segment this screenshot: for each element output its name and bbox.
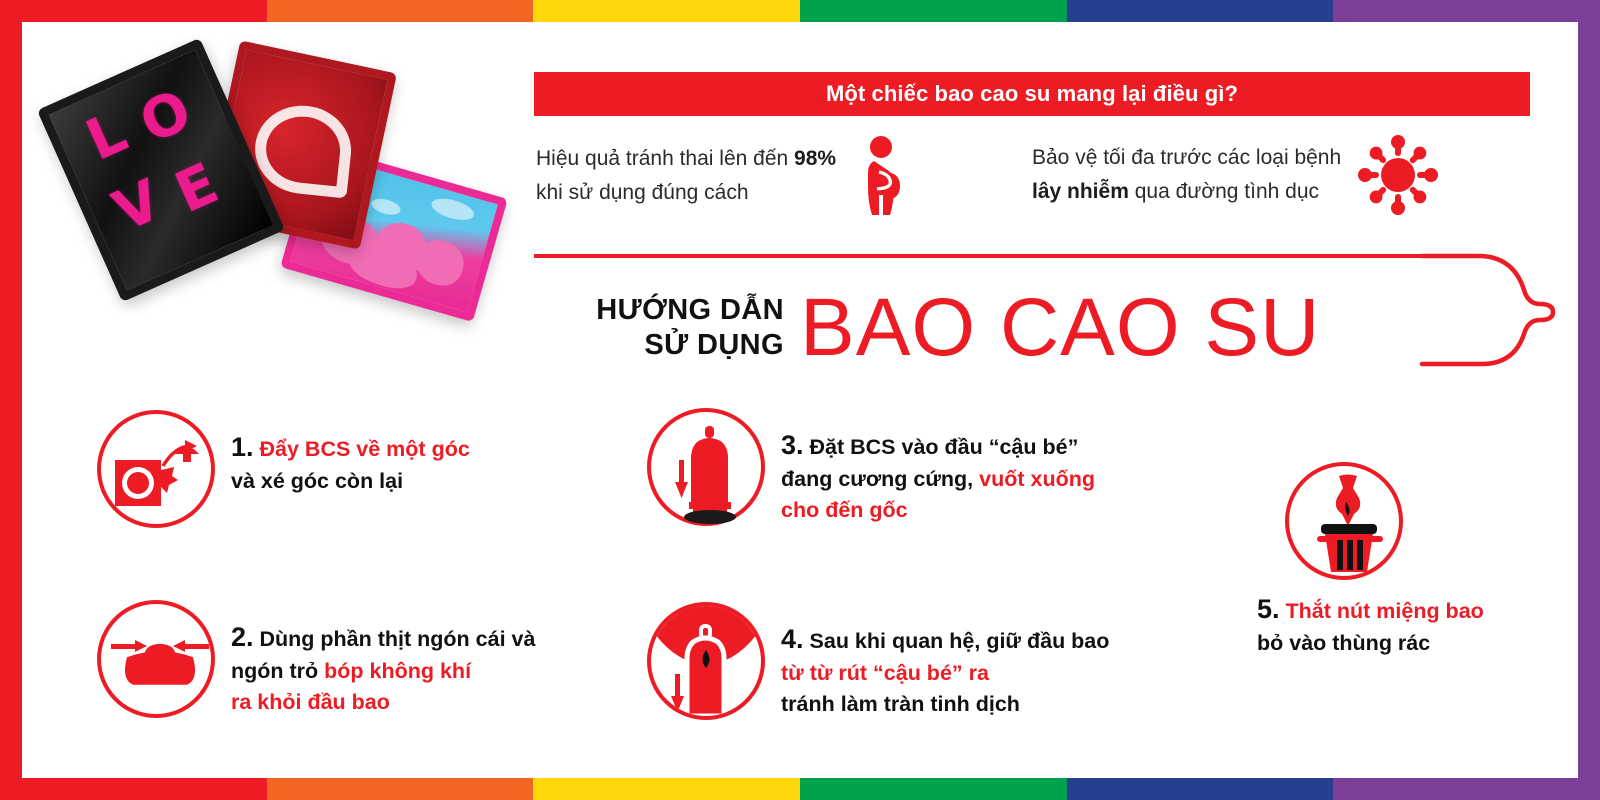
step-5-seg-0: Thắt nút miệng bao — [1286, 599, 1484, 623]
stripe-purple — [1333, 0, 1600, 22]
condom-packet-tear-corner-icon — [113, 430, 205, 512]
benefit-sti-text: Bảo vệ tối đa trước các loại bệnh lây nh… — [1032, 141, 1341, 209]
step-3-text: 3. Đặt BCS vào đầu “cậu bé” đang cương c… — [781, 408, 1095, 525]
stripe-red — [0, 0, 267, 22]
stripe-green — [800, 778, 1067, 800]
benefit-pregnancy-line1-a: Hiệu quả tránh thai lên đến — [536, 147, 794, 170]
step-1-number: 1. — [231, 432, 254, 462]
step-1-seg-0: Đẩy BCS về một góc — [260, 437, 470, 461]
stripe-yellow — [533, 0, 800, 22]
stripe-blue — [1067, 778, 1334, 800]
step-1-circle — [97, 410, 215, 528]
stripe-red — [0, 778, 267, 800]
header-banner: Một chiếc bao cao su mang lại điều gì? — [534, 72, 1530, 116]
main-title: HƯỚNG DẪN SỬ DỤNG BAO CAO SU — [534, 278, 1534, 378]
benefit-sti-bold: lây nhiễm — [1032, 180, 1129, 203]
pregnant-woman-icon — [854, 136, 908, 216]
step-1: 1. Đẩy BCS về một góc và xé góc còn lại — [97, 410, 470, 528]
step-5: 5. Thắt nút miệng bao bỏ vào thùng rác — [1257, 462, 1484, 659]
stripe-green — [800, 0, 1067, 22]
step-4-seg-0: Sau khi quan hệ, giữ đầu bao — [810, 629, 1110, 653]
stripe-yellow — [533, 778, 800, 800]
step-1-seg-1: và xé góc còn lại — [231, 469, 403, 493]
tied-condom-trash-bin-icon — [1303, 474, 1393, 574]
benefit-pregnancy-text: Hiệu quả tránh thai lên đến 98% khi sử d… — [536, 142, 836, 210]
step-2-circle — [97, 600, 215, 718]
benefit-sti: Bảo vệ tối đa trước các loại bệnh lây nh… — [1032, 136, 1532, 214]
benefit-sti-line2: qua đường tình dục — [1129, 180, 1319, 203]
step-1-text: 1. Đẩy BCS về một góc và xé góc còn lại — [231, 410, 470, 497]
title-subheading-line1: HƯỚNG DẪN — [534, 293, 784, 328]
stripe-purple — [1333, 778, 1600, 800]
condom-withdraw-icon — [647, 602, 765, 720]
step-2-seg-3: ra khỏi đầu bao — [231, 690, 390, 714]
step-2-seg-1: ngón trỏ — [231, 659, 324, 683]
step-4-circle — [647, 602, 765, 720]
step-3-number: 3. — [781, 430, 804, 460]
step-3: 3. Đặt BCS vào đầu “cậu bé” đang cương c… — [647, 408, 1095, 526]
benefits-row: Hiệu quả tránh thai lên đến 98% khi sử d… — [534, 132, 1534, 232]
step-3-seg-3: cho đến gốc — [781, 498, 908, 522]
virus-icon — [1359, 136, 1437, 214]
step-4: 4. Sau khi quan hệ, giữ đầu bao từ từ rú… — [647, 602, 1109, 720]
pinch-tip-arrows-icon — [109, 626, 211, 698]
step-5-circle — [1285, 462, 1403, 580]
poster-canvas: L O V E Một chiếc bao cao su mang lại đi… — [22, 22, 1578, 778]
heart-icon — [251, 101, 356, 199]
benefit-pregnancy-percent: 98% — [794, 147, 836, 170]
step-2-number: 2. — [231, 622, 254, 652]
title-subheading-line2: SỬ DỤNG — [534, 328, 784, 363]
rainbow-stripe-top — [0, 0, 1600, 22]
step-2: 2. Dùng phần thịt ngón cái và ngón trỏ b… — [97, 600, 535, 718]
step-4-seg-2: tránh làm tràn tinh dịch — [781, 692, 1020, 716]
title-top-rule — [534, 254, 1474, 258]
stripe-orange — [267, 778, 534, 800]
benefit-sti-line1: Bảo vệ tối đa trước các loại bệnh — [1032, 146, 1341, 169]
title-subheading: HƯỚNG DẪN SỬ DỤNG — [534, 293, 784, 364]
step-2-seg-0: Dùng phần thịt ngón cái và — [260, 627, 536, 651]
step-2-seg-2: bóp không khí — [324, 659, 471, 683]
step-3-seg-1: đang cương cứng, — [781, 467, 979, 491]
step-2-text: 2. Dùng phần thịt ngón cái và ngón trỏ b… — [231, 600, 535, 717]
step-3-seg-0: Đặt BCS vào đầu “cậu bé” — [810, 435, 1079, 459]
condom-roll-down-icon — [669, 422, 751, 522]
stripe-orange — [267, 0, 534, 22]
benefit-pregnancy: Hiệu quả tránh thai lên đến 98% khi sử d… — [536, 136, 991, 216]
step-5-text: 5. Thắt nút miệng bao bỏ vào thùng rác — [1257, 586, 1484, 659]
benefit-pregnancy-line2: khi sử dụng đúng cách — [536, 181, 749, 204]
step-5-number: 5. — [1257, 594, 1280, 624]
rainbow-stripe-bottom — [0, 778, 1600, 800]
frame-left-edge — [0, 0, 22, 800]
step-4-text: 4. Sau khi quan hệ, giữ đầu bao từ từ rú… — [781, 602, 1109, 719]
condom-packets-photo: L O V E — [62, 47, 482, 347]
step-5-seg-1: bỏ vào thùng rác — [1257, 631, 1430, 655]
step-4-number: 4. — [781, 624, 804, 654]
banner-title: Một chiếc bao cao su mang lại điều gì? — [826, 81, 1238, 107]
frame-right-edge — [1578, 0, 1600, 800]
step-3-seg-2: vuốt xuống — [979, 467, 1095, 491]
step-3-circle — [647, 408, 765, 526]
title-heading: BAO CAO SU — [800, 289, 1320, 368]
infographic-poster: L O V E Một chiếc bao cao su mang lại đi… — [0, 0, 1600, 800]
step-4-seg-1: từ từ rút “cậu bé” ra — [781, 661, 989, 685]
stripe-blue — [1067, 0, 1334, 22]
